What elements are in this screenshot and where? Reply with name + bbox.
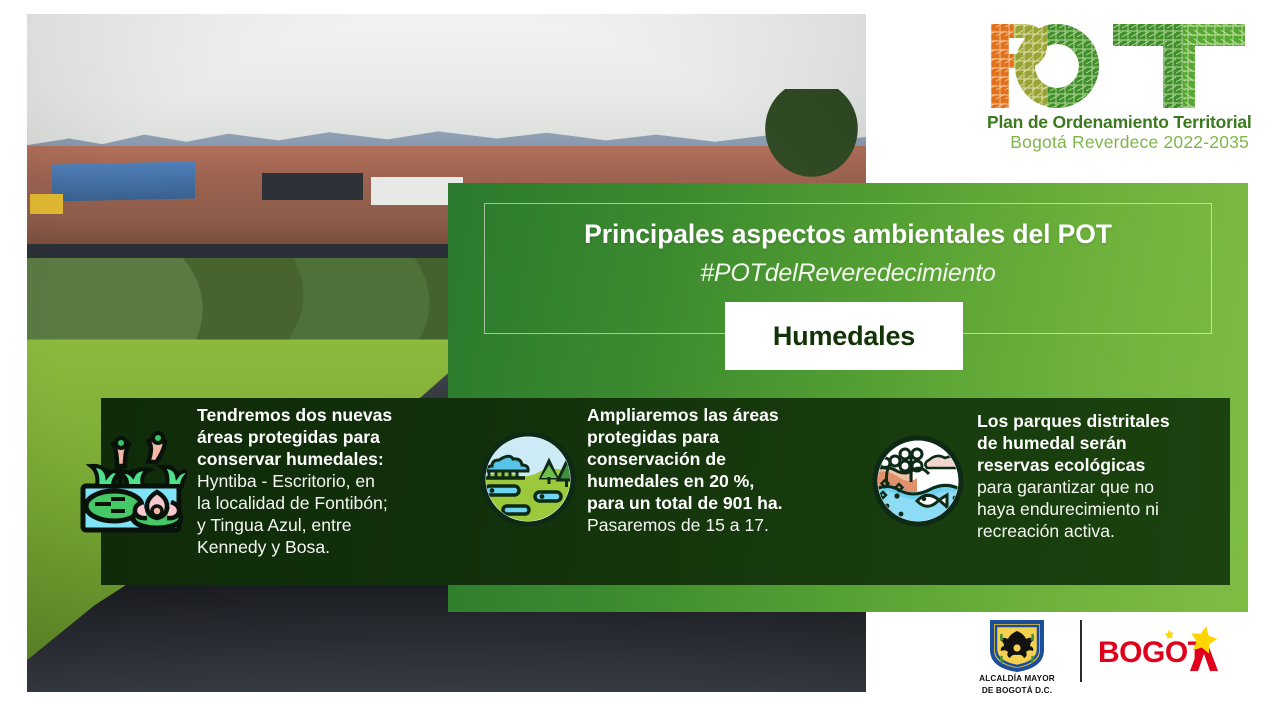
page-title: Principales aspectos ambientales del POT xyxy=(448,219,1248,250)
fact-text-1: Tendremos dos nuevas áreas protegidas pa… xyxy=(197,404,469,559)
fact-1-bold-line-2: áreas protegidas para xyxy=(197,426,469,448)
pot-acronym-icon xyxy=(987,20,1249,112)
bogota-wordmark-icon: BOGOT xyxy=(1098,626,1230,688)
fact-3-bold-line-2: de humedal serán xyxy=(977,432,1230,454)
fact-2-bold-line-4: humedales en 20 %, xyxy=(587,470,855,492)
section-label-box: Humedales xyxy=(725,302,963,370)
fact-2-reg-line-1: Pasaremos de 15 a 17. xyxy=(587,514,855,536)
pot-logo: Plan de Ordenamiento Territorial Bogotá … xyxy=(987,20,1249,160)
fact-3-reg-line-2: haya endurecimiento ni xyxy=(977,498,1230,520)
fact-item-1: Tendremos dos nuevas áreas protegidas pa… xyxy=(101,398,481,585)
fact-3-bold-line-1: Los parques distritales xyxy=(977,410,1230,432)
section-label-text: Humedales xyxy=(773,321,915,352)
alcaldia-text-line2: DE BOGOTÁ D.C. xyxy=(962,686,1072,696)
fact-item-2: Ampliaremos las áreas protegidas para co… xyxy=(481,398,871,585)
wetland-fish-icon xyxy=(871,434,965,533)
facts-card: Tendremos dos nuevas áreas protegidas pa… xyxy=(101,398,1230,585)
fact-3-reg-line-3: recreación activa. xyxy=(977,520,1230,542)
infographic-canvas: Plan de Ordenamiento Territorial Bogotá … xyxy=(0,0,1280,720)
bogota-shield-icon xyxy=(989,620,1045,672)
fact-text-2: Ampliaremos las áreas protegidas para co… xyxy=(587,404,855,536)
fact-text-3: Los parques distritales de humedal serán… xyxy=(977,410,1230,542)
pot-tagline-line1: Plan de Ordenamiento Territorial xyxy=(987,112,1249,132)
wetland-landscape-icon xyxy=(479,430,577,533)
footer-logos: ALCALDÍA MAYOR DE BOGOTÁ D.C. BOGOT xyxy=(962,620,1230,696)
pot-tagline-line2: Bogotá Reverdece 2022-2035 xyxy=(987,132,1249,153)
fact-1-bold-line-1: Tendremos dos nuevas xyxy=(197,404,469,426)
fact-3-reg-line-1: para garantizar que no xyxy=(977,476,1230,498)
fact-1-bold-line-3: conservar humedales: xyxy=(197,448,469,470)
fact-2-bold-line-3: conservación de xyxy=(587,448,855,470)
fact-2-bold-line-1: Ampliaremos las áreas xyxy=(587,404,855,426)
alcaldia-text-line1: ALCALDÍA MAYOR xyxy=(962,674,1072,684)
fact-1-reg-line-1: Hyntiba - Escritorio, en xyxy=(197,470,469,492)
wetland-lotus-icon xyxy=(57,426,187,549)
campaign-hashtag: #POTdelReveredecimiento xyxy=(448,259,1248,288)
fact-3-bold-line-3: reservas ecológicas xyxy=(977,454,1230,476)
footer-divider xyxy=(1080,620,1082,682)
fact-item-3: Los parques distritales de humedal serán… xyxy=(871,398,1230,585)
bogota-logo: BOGOT xyxy=(1098,626,1230,688)
svg-text:BOGOT: BOGOT xyxy=(1098,636,1206,669)
fact-2-bold-line-2: protegidas para xyxy=(587,426,855,448)
fact-1-reg-line-2: la localidad de Fontibón; xyxy=(197,492,469,514)
alcaldia-logo: ALCALDÍA MAYOR DE BOGOTÁ D.C. xyxy=(962,620,1072,697)
fact-2-bold-line-5: para un total de 901 ha. xyxy=(587,492,855,514)
fact-1-reg-line-3: y Tingua Azul, entre xyxy=(197,514,469,536)
fact-1-reg-line-4: Kennedy y Bosa. xyxy=(197,536,469,558)
